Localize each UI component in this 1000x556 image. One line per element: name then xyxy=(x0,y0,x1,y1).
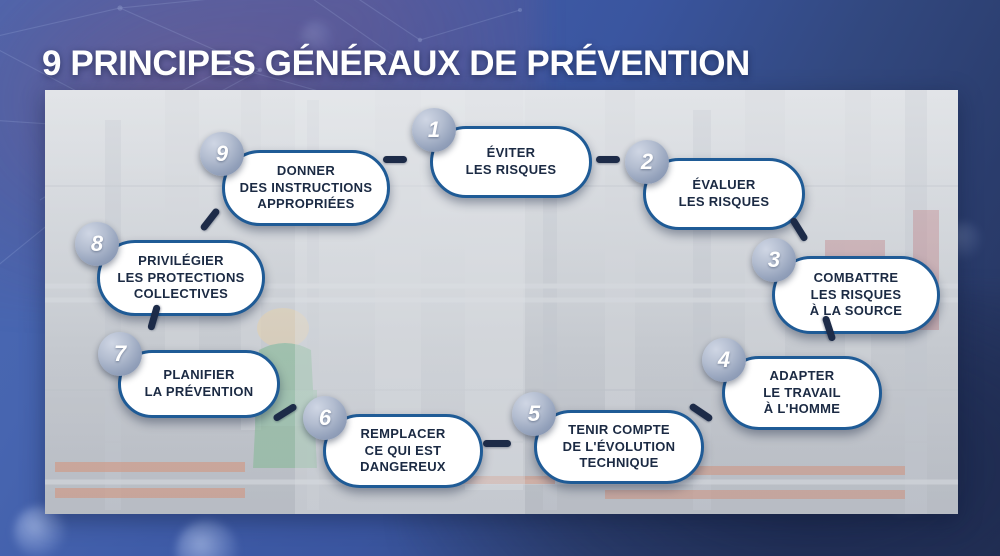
step-node-1[interactable]: ÉVITER LES RISQUES 1 xyxy=(412,108,592,198)
step-label-9: DONNER DES INSTRUCTIONS APPROPRIÉES xyxy=(226,163,387,213)
step-label-8: PRIVILÉGIER LES PROTECTIONS COLLECTIVES xyxy=(103,253,258,303)
page-title: 9 PRINCIPES GÉNÉRAUX DE PRÉVENTION xyxy=(42,44,750,84)
step-number-9: 9 xyxy=(216,143,228,165)
step-badge-1: 1 xyxy=(412,108,456,152)
step-pill-7[interactable]: PLANIFIER LA PRÉVENTION xyxy=(118,350,280,418)
step-label-4: ADAPTER LE TRAVAIL À L'HOMME xyxy=(749,368,855,418)
step-badge-6: 6 xyxy=(303,396,347,440)
connector-1-to-2 xyxy=(596,156,620,163)
step-label-7: PLANIFIER LA PRÉVENTION xyxy=(131,367,268,400)
step-badge-9: 9 xyxy=(200,132,244,176)
step-label-5: TENIR COMPTE DE L'ÉVOLUTION TECHNIQUE xyxy=(549,422,690,472)
step-badge-7: 7 xyxy=(98,332,142,376)
step-node-3[interactable]: COMBATTRE LES RISQUES À LA SOURCE 3 xyxy=(750,238,940,338)
step-node-2[interactable]: ÉVALUER LES RISQUES 2 xyxy=(625,140,805,230)
step-number-8: 8 xyxy=(91,233,103,255)
step-node-8[interactable]: PRIVILÉGIER LES PROTECTIONS COLLECTIVES … xyxy=(75,222,265,322)
step-badge-5: 5 xyxy=(512,392,556,436)
step-node-5[interactable]: TENIR COMPTE DE L'ÉVOLUTION TECHNIQUE 5 xyxy=(512,392,704,492)
step-node-6[interactable]: REMPLACER CE QUI EST DANGEREUX 6 xyxy=(303,396,483,496)
step-pill-6[interactable]: REMPLACER CE QUI EST DANGEREUX xyxy=(323,414,483,488)
step-node-9[interactable]: DONNER DES INSTRUCTIONS APPROPRIÉES 9 xyxy=(200,132,390,232)
step-number-6: 6 xyxy=(319,407,331,429)
step-badge-2: 2 xyxy=(625,140,669,184)
step-pill-3[interactable]: COMBATTRE LES RISQUES À LA SOURCE xyxy=(772,256,940,334)
step-badge-3: 3 xyxy=(752,238,796,282)
step-node-7[interactable]: PLANIFIER LA PRÉVENTION 7 xyxy=(98,332,280,422)
step-number-2: 2 xyxy=(641,151,653,173)
step-number-1: 1 xyxy=(428,119,440,141)
step-number-4: 4 xyxy=(718,349,730,371)
step-pill-5[interactable]: TENIR COMPTE DE L'ÉVOLUTION TECHNIQUE xyxy=(534,410,704,484)
step-label-2: ÉVALUER LES RISQUES xyxy=(665,177,784,210)
step-pill-8[interactable]: PRIVILÉGIER LES PROTECTIONS COLLECTIVES xyxy=(97,240,265,316)
step-pill-9[interactable]: DONNER DES INSTRUCTIONS APPROPRIÉES xyxy=(222,150,390,226)
step-node-4[interactable]: ADAPTER LE TRAVAIL À L'HOMME 4 xyxy=(702,338,882,438)
step-pill-4[interactable]: ADAPTER LE TRAVAIL À L'HOMME xyxy=(722,356,882,430)
step-number-5: 5 xyxy=(528,403,540,425)
step-number-7: 7 xyxy=(114,343,126,365)
step-number-3: 3 xyxy=(768,249,780,271)
step-badge-4: 4 xyxy=(702,338,746,382)
step-badge-8: 8 xyxy=(75,222,119,266)
connector-5-to-6 xyxy=(483,440,511,447)
step-label-1: ÉVITER LES RISQUES xyxy=(452,145,571,178)
slide-canvas: 9 PRINCIPES GÉNÉRAUX DE PRÉVENTION xyxy=(0,0,1000,556)
step-label-3: COMBATTRE LES RISQUES À LA SOURCE xyxy=(796,270,916,320)
step-label-6: REMPLACER CE QUI EST DANGEREUX xyxy=(346,426,460,476)
connector-9-to-1 xyxy=(383,156,407,163)
